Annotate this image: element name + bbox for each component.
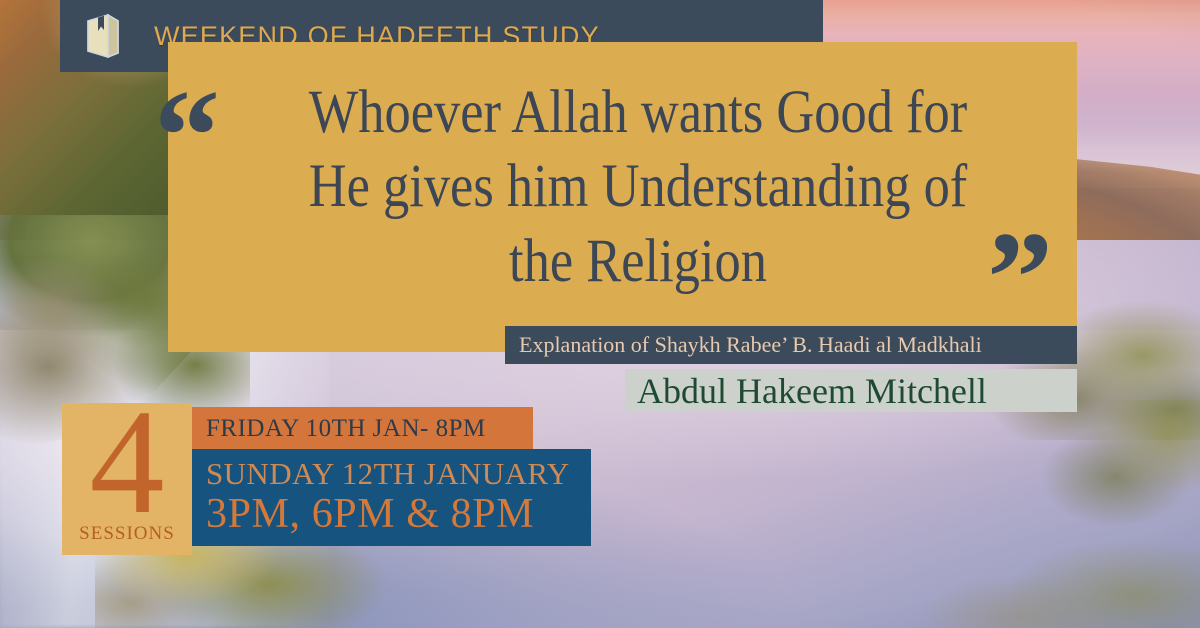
friday-schedule-text: FRIDAY 10TH JAN- 8PM: [192, 415, 486, 443]
speaker-name: Abdul Hakeem Mitchell: [625, 370, 987, 412]
quote-card: “ Whoever Allah wants Good for He gives …: [168, 42, 1077, 352]
speaker-band: Abdul Hakeem Mitchell: [625, 369, 1077, 412]
sunday-times-text: 3PM, 6PM & 8PM: [206, 491, 591, 538]
quote-text: Whoever Allah wants Good for He gives hi…: [294, 76, 982, 299]
sessions-label: SESSIONS: [62, 523, 192, 545]
quote-open-mark: “: [154, 70, 220, 202]
event-poster: WEEKEND OF HADEETH STUDY “ Whoever Allah…: [0, 0, 1200, 628]
schedule-band-friday: FRIDAY 10TH JAN- 8PM: [192, 407, 533, 451]
schedule-band-sunday: SUNDAY 12TH JANUARY 3PM, 6PM & 8PM: [192, 449, 591, 546]
explanation-text: Explanation of Shaykh Rabee’ B. Haadi al…: [505, 332, 982, 358]
book-icon: [82, 13, 122, 59]
quote-close-mark: ”: [987, 212, 1053, 344]
explanation-band: Explanation of Shaykh Rabee’ B. Haadi al…: [505, 326, 1077, 364]
sessions-count-box: 4 SESSIONS: [62, 403, 192, 555]
sunday-date-text: SUNDAY 12TH JANUARY: [206, 458, 591, 491]
sessions-count: 4: [62, 403, 192, 537]
